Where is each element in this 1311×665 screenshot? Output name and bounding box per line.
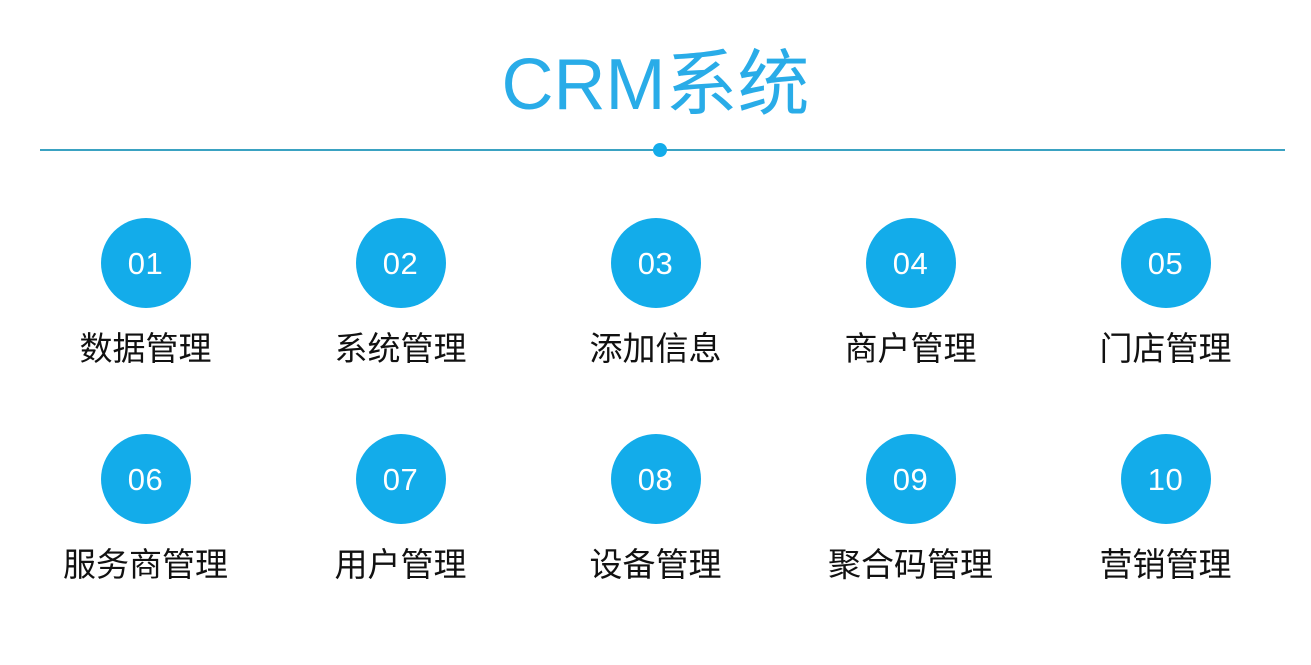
feature-item-02[interactable]: 02 系统管理	[278, 218, 523, 369]
badge-number-label: 05	[1148, 248, 1183, 279]
badge-number-label: 10	[1148, 464, 1183, 495]
feature-label-01: 数据管理	[80, 329, 212, 369]
feature-label-10: 营销管理	[1100, 545, 1232, 585]
badge-number-label: 09	[893, 464, 928, 495]
page-title: CRM系统	[0, 40, 1311, 130]
feature-row-2: 06 服务商管理 07 用户管理 08 设备管理 09 聚合码管理 10	[23, 434, 1288, 624]
feature-label-08: 设备管理	[590, 545, 722, 585]
number-badge-09: 09	[866, 434, 956, 524]
badge-number-label: 03	[638, 248, 673, 279]
number-badge-03: 03	[611, 218, 701, 308]
number-badge-05: 05	[1121, 218, 1211, 308]
number-badge-01: 01	[101, 218, 191, 308]
badge-number-label: 01	[128, 248, 163, 279]
feature-item-08[interactable]: 08 设备管理	[533, 434, 778, 585]
number-badge-07: 07	[356, 434, 446, 524]
badge-number-label: 07	[383, 464, 418, 495]
number-badge-10: 10	[1121, 434, 1211, 524]
feature-grid: 01 数据管理 02 系统管理 03 添加信息 04 商户管理 05	[23, 218, 1288, 618]
badge-number-label: 08	[638, 464, 673, 495]
feature-label-02: 系统管理	[335, 329, 467, 369]
feature-label-05: 门店管理	[1100, 329, 1232, 369]
feature-item-07[interactable]: 07 用户管理	[278, 434, 523, 585]
feature-item-01[interactable]: 01 数据管理	[23, 218, 268, 369]
feature-row-1: 01 数据管理 02 系统管理 03 添加信息 04 商户管理 05	[23, 218, 1288, 408]
header-divider	[0, 142, 1311, 162]
badge-number-label: 06	[128, 464, 163, 495]
page-header: CRM系统	[0, 0, 1311, 170]
feature-label-09: 聚合码管理	[828, 545, 993, 585]
feature-item-06[interactable]: 06 服务商管理	[23, 434, 268, 585]
feature-label-03: 添加信息	[590, 329, 722, 369]
number-badge-06: 06	[101, 434, 191, 524]
feature-item-04[interactable]: 04 商户管理	[788, 218, 1033, 369]
feature-item-03[interactable]: 03 添加信息	[533, 218, 778, 369]
number-badge-02: 02	[356, 218, 446, 308]
feature-label-07: 用户管理	[335, 545, 467, 585]
feature-item-10[interactable]: 10 营销管理	[1043, 434, 1288, 585]
number-badge-04: 04	[866, 218, 956, 308]
feature-item-09[interactable]: 09 聚合码管理	[788, 434, 1033, 585]
badge-number-label: 04	[893, 248, 928, 279]
divider-dot-icon	[653, 143, 667, 157]
number-badge-08: 08	[611, 434, 701, 524]
feature-item-05[interactable]: 05 门店管理	[1043, 218, 1288, 369]
badge-number-label: 02	[383, 248, 418, 279]
feature-label-06: 服务商管理	[63, 545, 228, 585]
feature-label-04: 商户管理	[845, 329, 977, 369]
